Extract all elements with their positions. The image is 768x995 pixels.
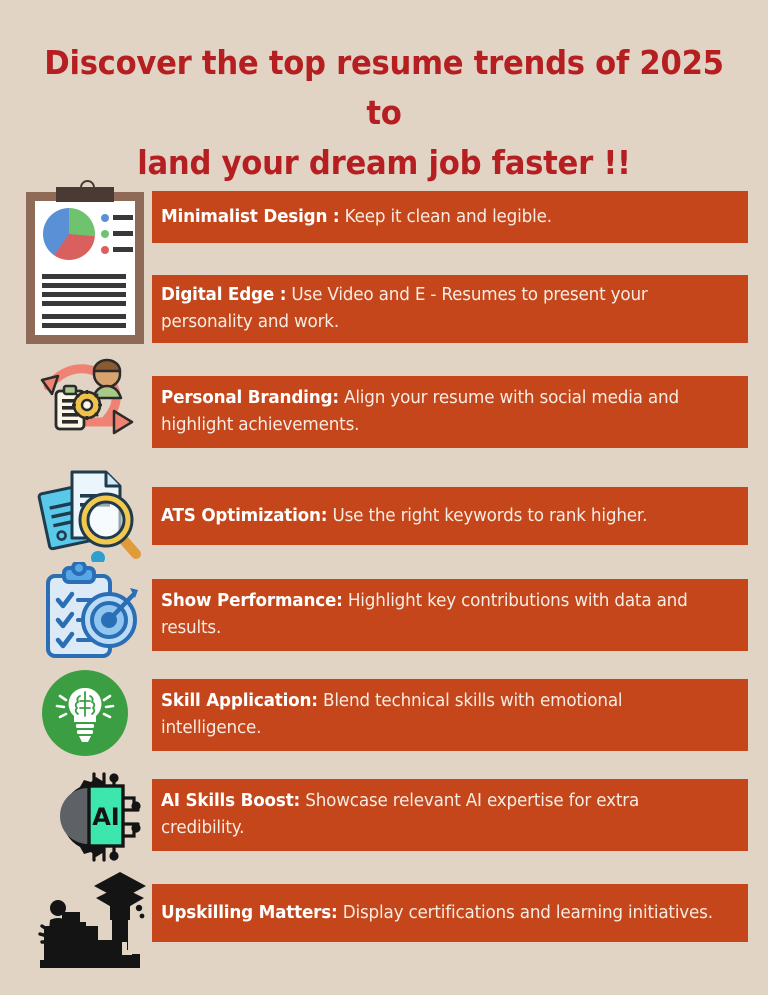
trend-rows-list: Minimalist Design : Keep it clean and le… [0,0,768,995]
trend-label: Show Performance: [161,591,343,611]
trend-bar-ats-optimization[interactable]: ATS Optimization: Use the right keywords… [152,487,748,545]
trend-text: Upskilling Matters: Display certificatio… [161,900,713,927]
trend-text: Personal Branding: Align your resume wit… [161,385,716,439]
trend-label: AI Skills Boost: [161,791,300,811]
trend-description: Keep it clean and legible. [345,207,552,227]
trend-label: Personal Branding: [161,388,339,408]
trend-text: ATS Optimization: Use the right keywords… [161,503,647,530]
trend-label: ATS Optimization: [161,506,327,526]
trend-label: Upskilling Matters: [161,903,338,923]
trend-bar-show-performance[interactable]: Show Performance: Highlight key contribu… [152,579,748,651]
trend-text: Skill Application: Blend technical skill… [161,688,716,742]
trend-label: Digital Edge : [161,285,286,305]
trend-description: Use the right keywords to rank higher. [332,506,647,526]
trend-text: Digital Edge : Use Video and E - Resumes… [161,282,716,336]
trend-text: AI Skills Boost: Showcase relevant AI ex… [161,788,716,842]
trend-label: Minimalist Design : [161,207,339,227]
trend-description: Display certifications and learning init… [343,903,713,923]
trend-bar-personal-branding[interactable]: Personal Branding: Align your resume wit… [152,376,748,448]
trend-bar-minimalist-design[interactable]: Minimalist Design : Keep it clean and le… [152,191,748,243]
trend-bar-ai-skills-boost[interactable]: AI Skills Boost: Showcase relevant AI ex… [152,779,748,851]
trend-bar-upskilling-matters[interactable]: Upskilling Matters: Display certificatio… [152,884,748,942]
trend-bar-skill-application[interactable]: Skill Application: Blend technical skill… [152,679,748,751]
trend-bar-digital-edge[interactable]: Digital Edge : Use Video and E - Resumes… [152,275,748,343]
trend-text: Show Performance: Highlight key contribu… [161,588,716,642]
trend-label: Skill Application: [161,691,318,711]
trend-text: Minimalist Design : Keep it clean and le… [161,204,552,231]
